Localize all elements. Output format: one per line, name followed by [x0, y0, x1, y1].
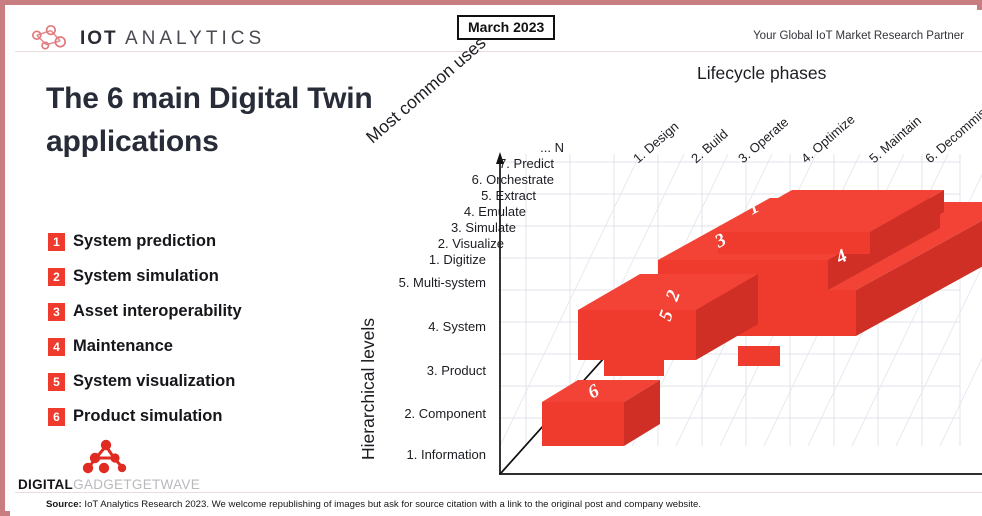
source-note: Source: IoT Analytics Research 2023. We …	[46, 499, 701, 510]
application-list: 1 System prediction 2 System simulation …	[48, 224, 348, 434]
z-tick-n: ... N	[460, 140, 564, 155]
z-tick-3-simulate: 3. Simulate	[392, 220, 516, 235]
list-item: 5 System visualization	[48, 364, 348, 399]
node-network-icon	[28, 24, 70, 54]
badge-number: 3	[48, 303, 65, 321]
badge-number: 6	[48, 408, 65, 426]
z-tick-4-emulate: 4. Emulate	[408, 204, 526, 219]
list-item: 6 Product simulation	[48, 399, 348, 434]
watermark-logo: DIGITALGADGETGETWAVE	[18, 438, 193, 492]
y-axis-title: Hierarchical levels	[358, 318, 379, 460]
brand-wordmark: IOT ANALYTICS	[80, 28, 265, 50]
badge-number: 4	[48, 338, 65, 356]
iot-analytics-logo: IOT ANALYTICS	[28, 24, 265, 54]
block-group-25	[578, 274, 780, 376]
y-tick-3-product: 3. Product	[382, 363, 486, 378]
z-tick-5-extract: 5. Extract	[422, 188, 536, 203]
z-tick-2-visualize: 2. Visualize	[380, 236, 504, 251]
digital-twin-3d-chart: 1 3 4 2 5 6 Lifecycle phases Most common…	[340, 54, 982, 494]
x-axis-title: Lifecycle phases	[697, 63, 826, 84]
list-item-label: System prediction	[73, 232, 216, 251]
list-item-label: System simulation	[73, 267, 219, 286]
list-item-label: System visualization	[73, 372, 235, 391]
list-item: 2 System simulation	[48, 259, 348, 294]
z-tick-7-predict: 7. Predict	[450, 156, 554, 171]
source-text: IoT Analytics Research 2023. We welcome …	[82, 499, 701, 510]
badge-number: 5	[48, 373, 65, 391]
brand-primary: IOT	[80, 28, 118, 49]
molecule-node-icon	[78, 438, 134, 476]
infographic-canvas: IOT ANALYTICS March 2023 Your Global IoT…	[10, 10, 982, 516]
watermark-secondary: GADGETGETWAVE	[73, 477, 200, 492]
block-6	[542, 380, 660, 446]
y-tick-5-multi-system: 5. Multi-system	[382, 275, 486, 290]
list-item-label: Asset interoperability	[73, 302, 242, 321]
header-divider	[15, 51, 982, 52]
y-tick-2-component: 2. Component	[382, 406, 486, 421]
list-item: 1 System prediction	[48, 224, 348, 259]
z-tick-6-orchestrate: 6. Orchestrate	[430, 172, 554, 187]
list-item-label: Maintenance	[73, 337, 173, 356]
source-label: Source:	[46, 499, 82, 510]
list-item: 3 Asset interoperability	[48, 294, 348, 329]
y-tick-1-information: 1. Information	[382, 447, 486, 462]
badge-number: 1	[48, 233, 65, 251]
infographic-frame: IOT ANALYTICS March 2023 Your Global IoT…	[0, 0, 982, 516]
watermark-primary: DIGITAL	[18, 477, 73, 492]
list-item: 4 Maintenance	[48, 329, 348, 364]
badge-number: 2	[48, 268, 65, 286]
chart-canvas: 1 3 4 2 5 6	[340, 54, 982, 494]
y-tick-4-system: 4. System	[382, 319, 486, 334]
brand-secondary: ANALYTICS	[125, 28, 265, 49]
header-tagline: Your Global IoT Market Research Partner	[753, 30, 964, 42]
z-tick-1-digitize: 1. Digitize	[364, 252, 486, 267]
list-item-label: Product simulation	[73, 407, 222, 426]
watermark-wordmark: DIGITALGADGETGETWAVE	[18, 477, 193, 492]
